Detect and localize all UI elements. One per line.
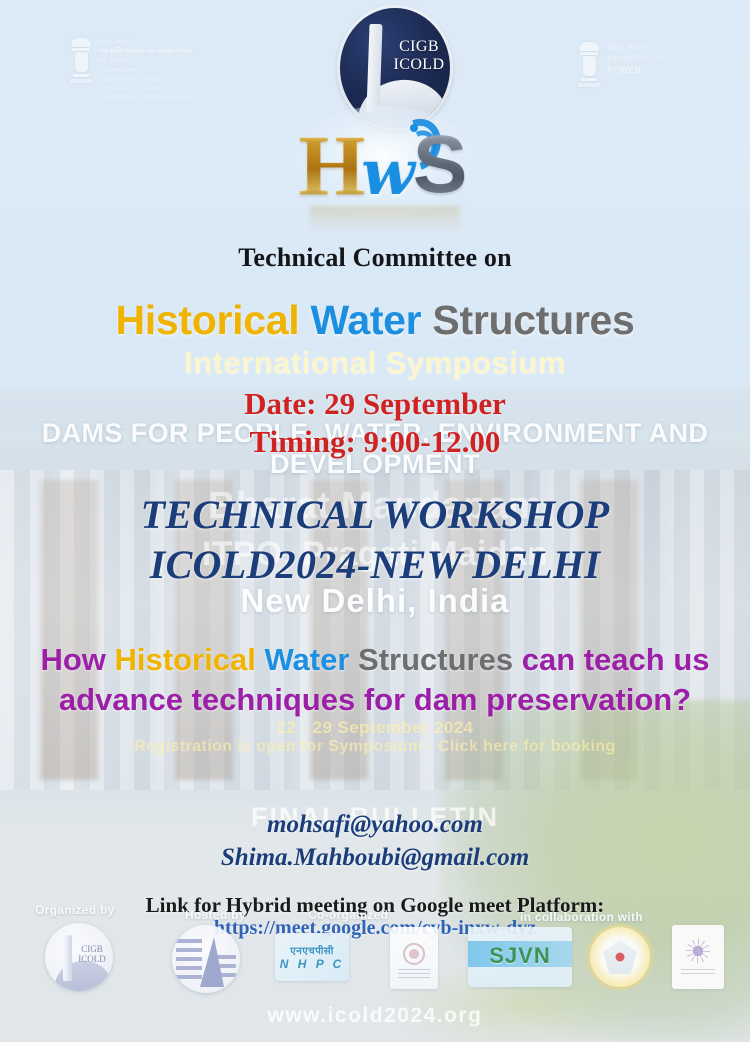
workshop-line-2: ICOLD2024-NEW DELHI <box>0 540 750 590</box>
thdc-logo[interactable] <box>390 927 438 989</box>
left-emblem-line: Department of Water Resources <box>99 93 192 102</box>
co-organized-label: Co-organized <box>308 908 388 922</box>
question-seg-historical: Historical <box>115 642 256 677</box>
sjvn-abbr-text: SJVN <box>468 941 572 971</box>
email-address-2[interactable]: Shima.Mahboubi@gmail.com <box>0 841 750 874</box>
event-time: Timing: 9:00-12.00 <box>0 423 750 461</box>
theme-question: How Historical Water Structures can teac… <box>0 640 750 719</box>
cwc-dam-logo[interactable] <box>172 925 240 993</box>
right-emblem-text: विद्युत मंत्रालय MINISTRY OF POWER <box>607 42 665 77</box>
committee-label: Technical Committee on <box>0 243 750 273</box>
hws-letter-s: S <box>413 124 468 206</box>
hws-letter-h: H <box>299 122 366 208</box>
icold-logo-icold: ICOLD <box>392 56 446 74</box>
event-date: Date: 29 September <box>0 385 750 423</box>
left-emblem-line: जल शक्ति मंत्रालय, जल संसाधन विभाग <box>99 47 192 56</box>
partner-logo-icold: ICOLD <box>75 955 109 965</box>
collaboration-label: in collaboration with <box>520 910 643 924</box>
nhpc-abbr-text: N H P C <box>280 957 345 971</box>
nhpc-hindi-text: एनएचपीसी <box>290 943 334 957</box>
page-title: Historical Water Structures <box>0 297 750 344</box>
date-time-block: Date: 29 September Timing: 9:00-12.00 <box>0 385 750 461</box>
workshop-heading: TECHNICAL WORKSHOP ICOLD2024-NEW DELHI <box>0 490 750 591</box>
ministry-line-2: POWER <box>607 65 665 77</box>
hosted-by-label: Hosted by <box>185 908 246 922</box>
left-emblem-line: एवं गंगा संरक्षण <box>99 66 192 75</box>
workshop-line-1: TECHNICAL WORKSHOP <box>0 490 750 540</box>
left-emblem-line: Government of India <box>99 75 192 84</box>
question-seg-water: Water <box>264 642 349 677</box>
title-part-structures: Structures <box>432 297 634 343</box>
left-emblem-text: भारत सरकार जल शक्ति मंत्रालय, जल संसाधन … <box>99 38 192 103</box>
question-seg-how: How <box>40 642 114 677</box>
organized-by-label: Organized by <box>35 903 115 917</box>
ministry-of-power-emblem: विद्युत मंत्रालय MINISTRY OF POWER <box>578 42 665 94</box>
icold-logo-cigb: CIGB <box>392 38 446 56</box>
ministry-of-jal-shakti-emblem: भारत सरकार जल शक्ति मंत्रालय, जल संसाधन … <box>70 38 192 103</box>
poster-root: International Symposium DAMS FOR PEOPLE,… <box>0 0 750 1042</box>
hws-wordmark-icon: H w S <box>268 112 498 218</box>
left-emblem-line: Ministry of Jal Shakti <box>99 84 192 93</box>
ministry-hindi-label: विद्युत मंत्रालय <box>607 42 665 54</box>
poster-content: भारत सरकार जल शक्ति मंत्रालय, जल संसाधन … <box>0 0 750 1042</box>
sjvn-logo[interactable]: SJVN <box>468 927 572 987</box>
title-part-water: Water <box>310 297 421 343</box>
question-seg-structures: Structures <box>358 642 513 677</box>
ashoka-emblem-icon <box>578 42 600 94</box>
email-address-1[interactable]: mohsafi@yahoo.com <box>0 808 750 841</box>
nhpc-logo[interactable]: एनएचपीसी N H P C <box>275 933 349 981</box>
ashoka-emblem-icon <box>70 38 92 90</box>
title-part-historical: Historical <box>116 297 300 343</box>
icold-partner-logo[interactable]: CIGB ICOLD <box>45 923 113 991</box>
ministry-line-1: MINISTRY OF <box>607 54 665 66</box>
left-emblem-line: भारत सरकार <box>99 38 192 47</box>
certificate-logo[interactable] <box>672 925 724 989</box>
question-space <box>349 642 358 677</box>
nhai-logo[interactable] <box>590 927 650 987</box>
contact-emails: mohsafi@yahoo.com Shima.Mahboubi@gmail.c… <box>0 808 750 874</box>
left-emblem-line: नदी विकास <box>99 56 192 65</box>
partner-logo-row: Organized by Hosted by Co-organized in c… <box>0 895 750 1042</box>
